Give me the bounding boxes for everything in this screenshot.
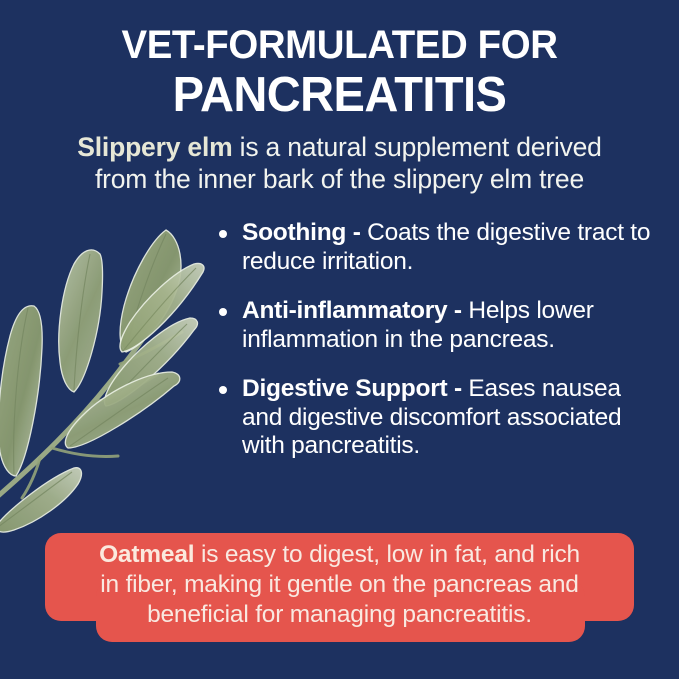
callout-line-one: Oatmeal is easy to digest, low in fat, a… [52,540,627,570]
leaf-2 [120,263,204,352]
callout-line-three: beneficial for managing pancreatitis. [52,600,627,630]
title-line-two: PANCREATITIS [14,68,666,122]
benefit-term: Anti-inflammatory - [242,297,468,324]
leaf-7 [0,468,81,532]
leaf-4 [105,318,198,406]
list-item: Anti-inflammatory - Helps lower inflamma… [212,297,664,354]
subtitle-line-one-rest: is a natural supplement derived [232,132,601,162]
product-benefit-poster: VET-FORMULATED FOR PANCREATITIS Slippery… [0,0,679,679]
leaf-5 [0,306,42,476]
benefits-list: Soothing - Coats the digestive tract to … [212,219,664,461]
branch-stem [0,294,182,498]
list-item: Digestive Support - Eases nausea and dig… [212,375,664,461]
title-line-one: VET-FORMULATED FOR [14,22,666,68]
subtitle-line-one: Slippery elm is a natural supplement der… [14,131,665,163]
page-title: VET-FORMULATED FOR PANCREATITIS [0,22,679,122]
benefit-text: Anti-inflammatory - Helps lower inflamma… [242,297,664,354]
bullet-dot-icon [219,230,227,238]
benefit-text: Digestive Support - Eases nausea and dig… [242,375,664,461]
leaf-1 [120,230,181,352]
callout-text: Oatmeal is easy to digest, low in fat, a… [52,540,627,630]
subtitle-line-two: from the inner bark of the slippery elm … [14,163,665,195]
bullet-dot-icon [219,386,227,394]
leaf-6 [65,372,179,448]
callout-line-one-rest: is easy to digest, low in fat, and rich [194,541,580,568]
olive-branch-illustration [0,196,220,546]
list-item: Soothing - Coats the digestive tract to … [212,219,664,276]
callout-lead-term: Oatmeal [99,541,194,568]
benefit-text: Soothing - Coats the digestive tract to … [242,219,664,276]
bullet-dot-icon [219,308,227,316]
callout-line-two: in fiber, making it gentle on the pancre… [52,570,627,600]
leaf-3 [59,250,103,392]
subtitle: Slippery elm is a natural supplement der… [14,131,665,195]
benefit-term: Digestive Support - [242,375,468,402]
benefit-term: Soothing - [242,219,367,246]
oatmeal-callout: Oatmeal is easy to digest, low in fat, a… [0,530,679,650]
subtitle-lead-term: Slippery elm [77,132,232,162]
